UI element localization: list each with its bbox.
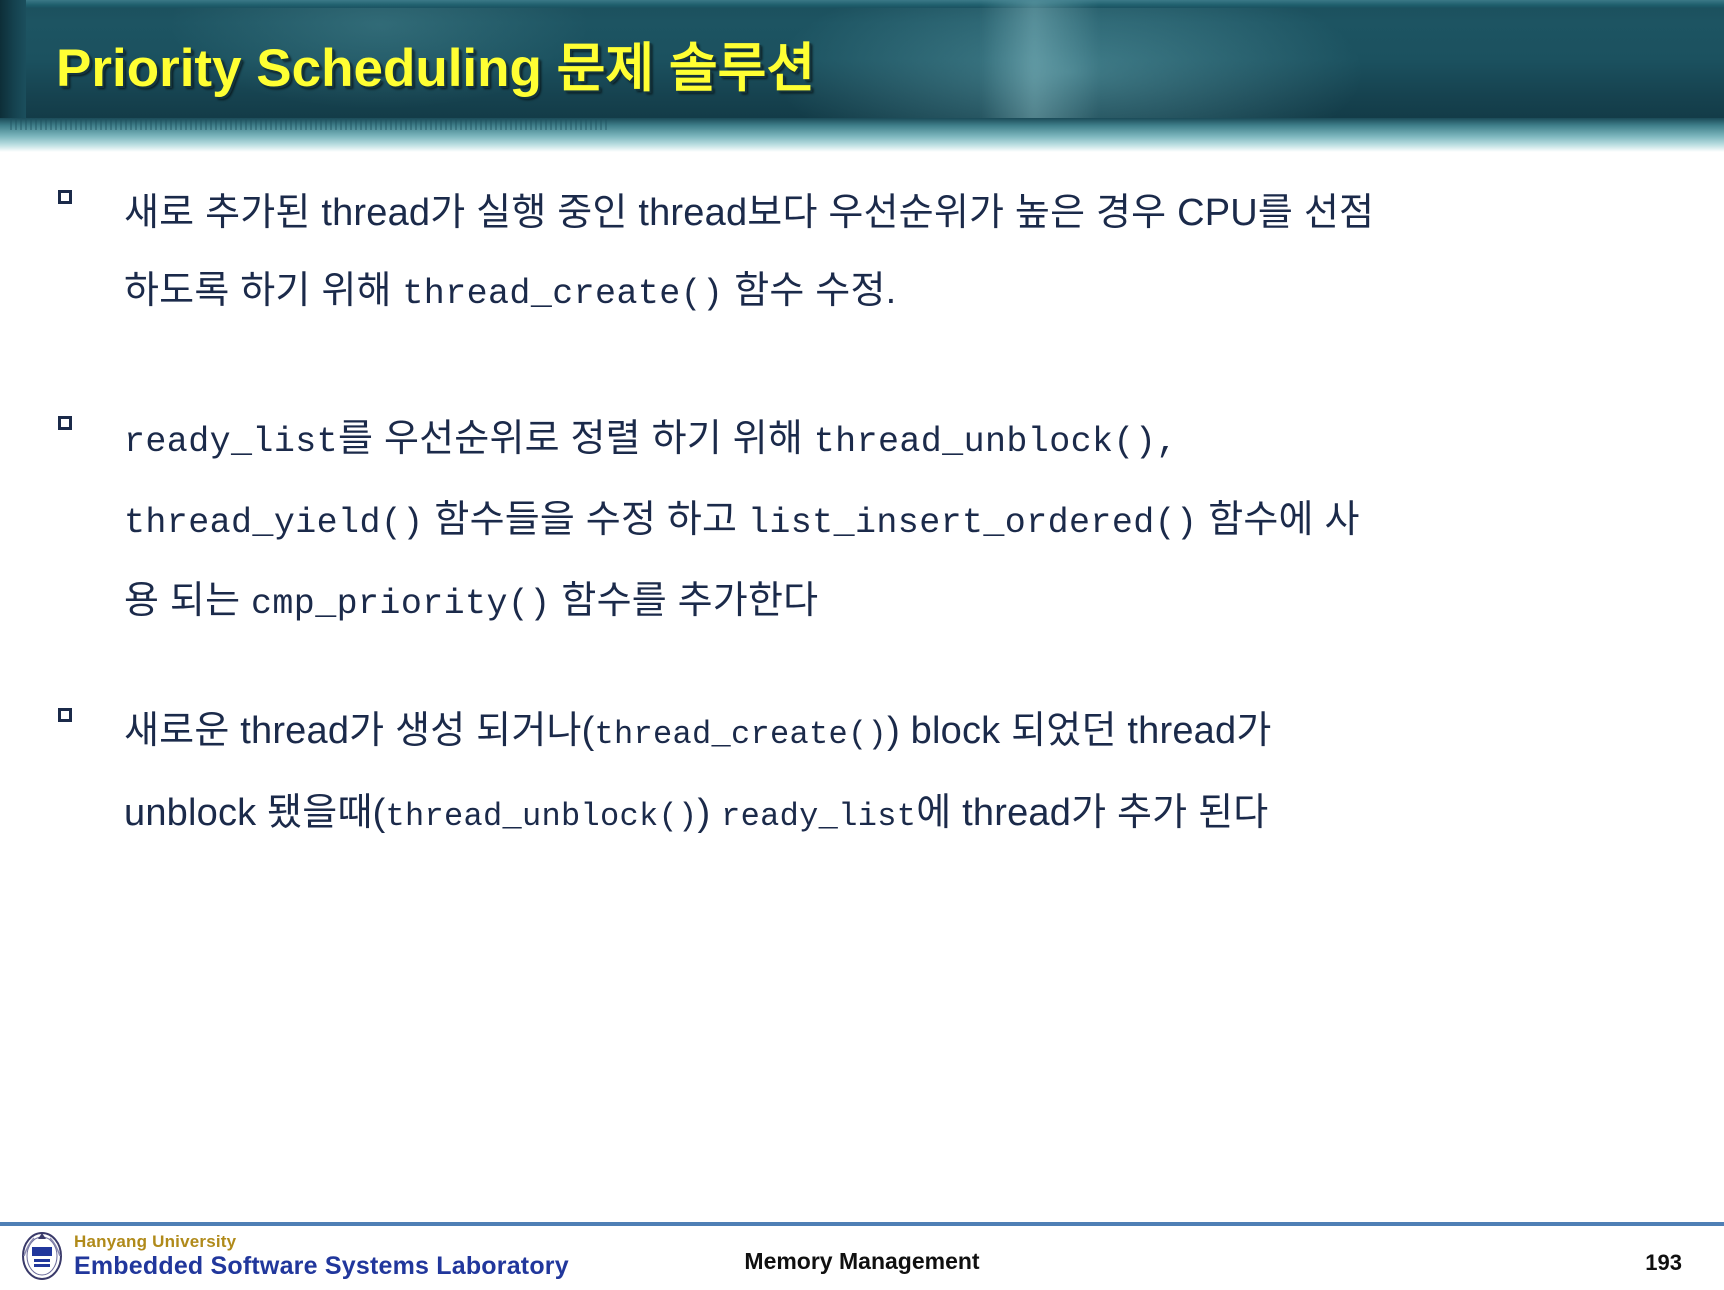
- text-run: unblock 됐을때(: [124, 792, 385, 834]
- text-run: 용 되는: [124, 580, 251, 622]
- text-run: ): [698, 792, 722, 834]
- text-run: 를 우선순위로 정렬 하기 위해: [338, 418, 814, 460]
- bullet-line: 하도록 하기 위해 thread_create() 함수 수정.: [124, 252, 1682, 333]
- title-banner: Priority Scheduling 문제 솔루션: [0, 0, 1724, 152]
- code-run: list_insert_ordered(): [748, 503, 1197, 543]
- code-run: thread_unblock(): [385, 798, 697, 835]
- page-title: Priority Scheduling 문제 솔루션: [56, 26, 815, 102]
- bullet-item-1: 새로 추가된 thread가 실행 중인 thread보다 우선순위가 높은 경…: [52, 174, 1682, 333]
- banner-left-edge: [0, 0, 26, 124]
- bullet-line: thread_yield() 함수들을 수정 하고 list_insert_or…: [124, 481, 1682, 562]
- bullet-3-text: 새로운 thread가 생성 되거나(thread_create()) bloc…: [124, 692, 1682, 856]
- bullet-item-3: 새로운 thread가 생성 되거나(thread_create()) bloc…: [52, 692, 1682, 856]
- slide-body: 새로 추가된 thread가 실행 중인 thread보다 우선순위가 높은 경…: [0, 152, 1724, 1212]
- code-run: thread_create(): [595, 716, 888, 753]
- square-bullet-icon: [58, 708, 72, 722]
- code-run: ready_list: [721, 798, 916, 835]
- text-run: 함수들을 수정 하고: [424, 499, 748, 541]
- code-run: cmp_priority(): [251, 584, 551, 624]
- code-run: thread_create(): [402, 274, 723, 314]
- text-run: ) block 되었던 thread가: [887, 710, 1271, 752]
- code-run: ready_list: [124, 422, 338, 462]
- slide-footer: Hanyang University Embedded Software Sys…: [0, 1226, 1724, 1290]
- bullet-2-text: ready_list를 우선순위로 정렬 하기 위해 thread_unbloc…: [124, 400, 1682, 643]
- code-run: thread_unblock(),: [814, 422, 1178, 462]
- text-run: 함수에 사: [1197, 499, 1359, 541]
- text-run: 함수를 추가한다: [551, 580, 819, 622]
- text-run: 새로운 thread가 생성 되거나(: [124, 710, 595, 752]
- code-run: thread_yield(): [124, 503, 424, 543]
- bullet-item-2: ready_list를 우선순위로 정렬 하기 위해 thread_unbloc…: [52, 400, 1682, 643]
- square-bullet-icon: [58, 190, 72, 204]
- bullet-line: 새로운 thread가 생성 되거나(thread_create()) bloc…: [124, 692, 1682, 774]
- banner-speckle-texture: [10, 118, 610, 130]
- text-run: 하도록 하기 위해: [124, 270, 402, 312]
- bullet-line: 새로 추가된 thread가 실행 중인 thread보다 우선순위가 높은 경…: [124, 174, 1682, 252]
- page-number: 193: [1645, 1250, 1682, 1276]
- footer-section-title: Memory Management: [0, 1248, 1724, 1275]
- banner-sheen: [980, 0, 1100, 124]
- square-bullet-icon: [58, 416, 72, 430]
- text-run: 함수 수정.: [723, 270, 896, 312]
- bullet-line: ready_list를 우선순위로 정렬 하기 위해 thread_unbloc…: [124, 400, 1682, 481]
- bullet-line: unblock 됐을때(thread_unblock()) ready_list…: [124, 774, 1682, 856]
- text-run: 에 thread가 추가 된다: [916, 792, 1268, 834]
- bullet-1-text: 새로 추가된 thread가 실행 중인 thread보다 우선순위가 높은 경…: [124, 174, 1682, 333]
- bullet-line: 용 되는 cmp_priority() 함수를 추가한다: [124, 562, 1682, 643]
- text-run: 새로 추가된 thread가 실행 중인 thread보다 우선순위가 높은 경…: [124, 192, 1374, 234]
